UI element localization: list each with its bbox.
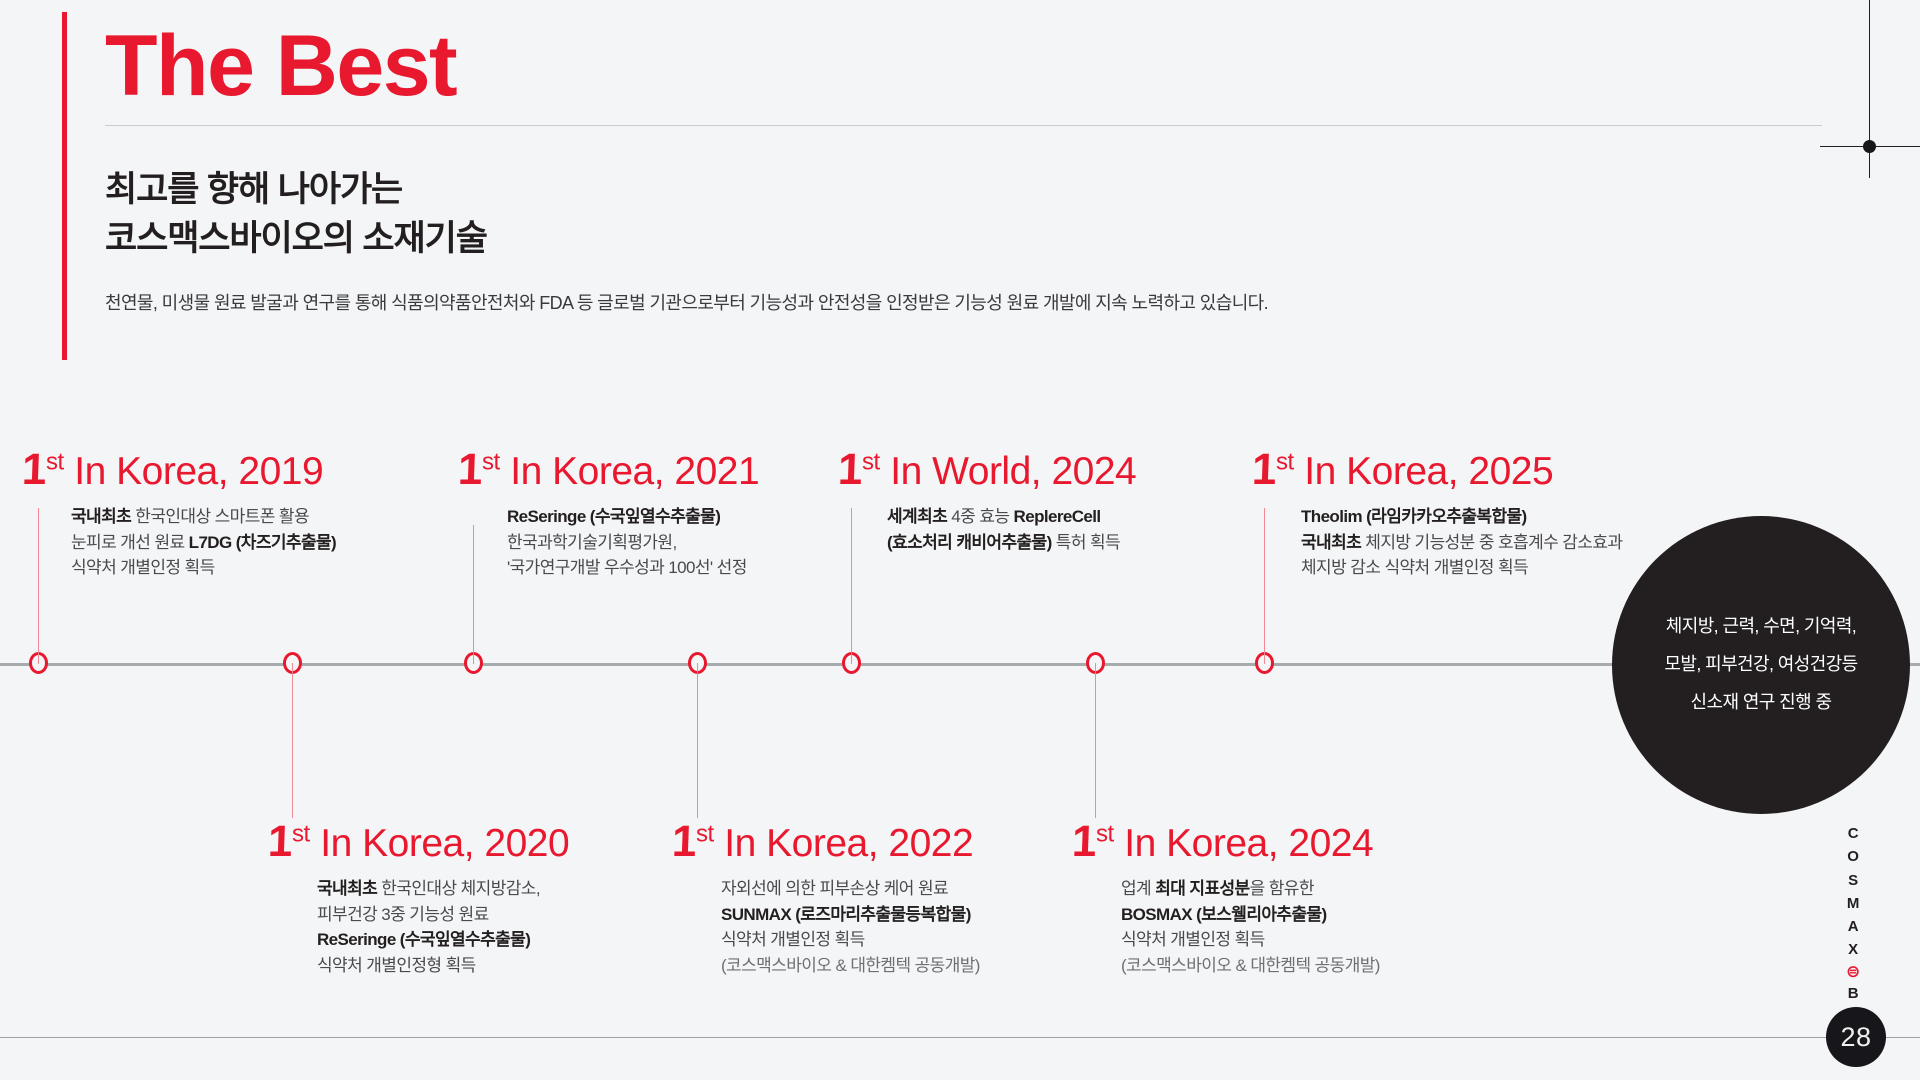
entry-ordinal-2021: 1st In Korea, 2021: [458, 448, 818, 492]
subtitle-line-2: 코스맥스바이오의 소재기술: [105, 215, 1805, 263]
research-badge-line-1: 체지방, 근력, 수면, 기억력,: [1666, 608, 1856, 646]
entry-desc-2019: 국내최초 한국인대상 스마트폰 활용 눈피로 개선 원료 L7DG (차즈기추출…: [71, 504, 382, 581]
header-divider: [105, 125, 1822, 126]
logo-letter: X: [1848, 938, 1859, 961]
entry-ordinal-2020: 1st In Korea, 2020: [268, 820, 648, 864]
cosmax-emblem-icon: ⊜: [1846, 963, 1861, 982]
entry-ordinal-2025: 1st In Korea, 2025: [1252, 448, 1672, 492]
logo-letter: M: [1847, 892, 1861, 915]
timeline-stem-2020: [292, 663, 293, 818]
page-number-badge: 28: [1826, 1007, 1886, 1067]
timeline-entry-2022[interactable]: 1st In Korea, 2022 자외선에 의한 피부손상 케어 원료 SU…: [672, 820, 1092, 978]
research-badge-line-3: 신소재 연구 진행 중: [1691, 684, 1832, 722]
timeline-stem-2022: [697, 663, 698, 818]
subtitle-line-1: 최고를 향해 나아가는: [105, 166, 1805, 214]
timeline-entry-2019[interactable]: 1st In Korea, 2019 국내최초 한국인대상 스마트폰 활용 눈피…: [22, 448, 382, 581]
page-title: The Best: [105, 22, 1805, 111]
entry-ordinal-2019: 1st In Korea, 2019: [22, 448, 382, 492]
timeline-entry-2020[interactable]: 1st In Korea, 2020 국내최초 한국인대상 체지방감소, 피부건…: [268, 820, 648, 978]
entry-ordinal-2024-korea: 1st In Korea, 2024: [1072, 820, 1472, 864]
timeline-entry-2024-world[interactable]: 1st In World, 2024 세계최초 4중 효능 ReplereCel…: [838, 448, 1198, 555]
logo-sub-letter: B: [1848, 982, 1860, 1005]
lede-paragraph: 천연물, 미생물 원료 발굴과 연구를 통해 식품의약품안전처와 FDA 등 글…: [105, 290, 1805, 317]
timeline-stem-2024k: [1095, 663, 1096, 818]
subtitle: 최고를 향해 나아가는 코스맥스바이오의 소재기술: [105, 166, 1805, 263]
entry-desc-2024-world: 세계최초 4중 효능 ReplereCell (효소처리 캐비어추출물) 특허 …: [887, 504, 1198, 555]
entry-ordinal-2022: 1st In Korea, 2022: [672, 820, 1092, 864]
entry-desc-2025: Theolim (라임카카오추출복합물) 국내최초 체지방 기능성분 중 호흡계…: [1301, 504, 1672, 581]
entry-desc-2022: 자외선에 의한 피부손상 케어 원료 SUNMAX (로즈마리추출물등복합물) …: [721, 876, 1092, 978]
logo-letter: S: [1848, 869, 1859, 892]
entry-desc-2021: ReSeringe (수국잎열수추출물) 한국과학기술기획평가원, '국가연구개…: [507, 504, 818, 581]
research-badge-line-2: 모발, 피부건강, 여성건강등: [1664, 646, 1857, 684]
research-badge: 체지방, 근력, 수면, 기억력, 모발, 피부건강, 여성건강등 신소재 연구…: [1612, 516, 1910, 814]
entry-ordinal-2024-world: 1st In World, 2024: [838, 448, 1198, 492]
timeline-entry-2025[interactable]: 1st In Korea, 2025 Theolim (라임카카오추출복합물) …: [1252, 448, 1672, 581]
timeline-entry-2024-korea[interactable]: 1st In Korea, 2024 업계 최대 지표성분을 함유한 BOSMA…: [1072, 820, 1472, 978]
header-accent-bar: [62, 12, 67, 360]
timeline-entry-2021[interactable]: 1st In Korea, 2021 ReSeringe (수국잎열수추출물) …: [458, 448, 818, 581]
logo-letter: A: [1848, 915, 1860, 938]
logo-letter: O: [1847, 845, 1860, 868]
logo-letter: C: [1848, 822, 1860, 845]
footer-divider: [0, 1037, 1920, 1038]
entry-desc-2020: 국내최초 한국인대상 체지방감소, 피부건강 3중 기능성 원료 ReSerin…: [317, 876, 648, 978]
crosshair-dot-icon: [1863, 140, 1876, 153]
header: The Best 최고를 향해 나아가는 코스맥스바이오의 소재기술 천연물, …: [105, 22, 1805, 317]
entry-desc-2024-korea: 업계 최대 지표성분을 함유한 BOSMAX (보스웰리아추출물) 식약처 개별…: [1121, 876, 1472, 978]
